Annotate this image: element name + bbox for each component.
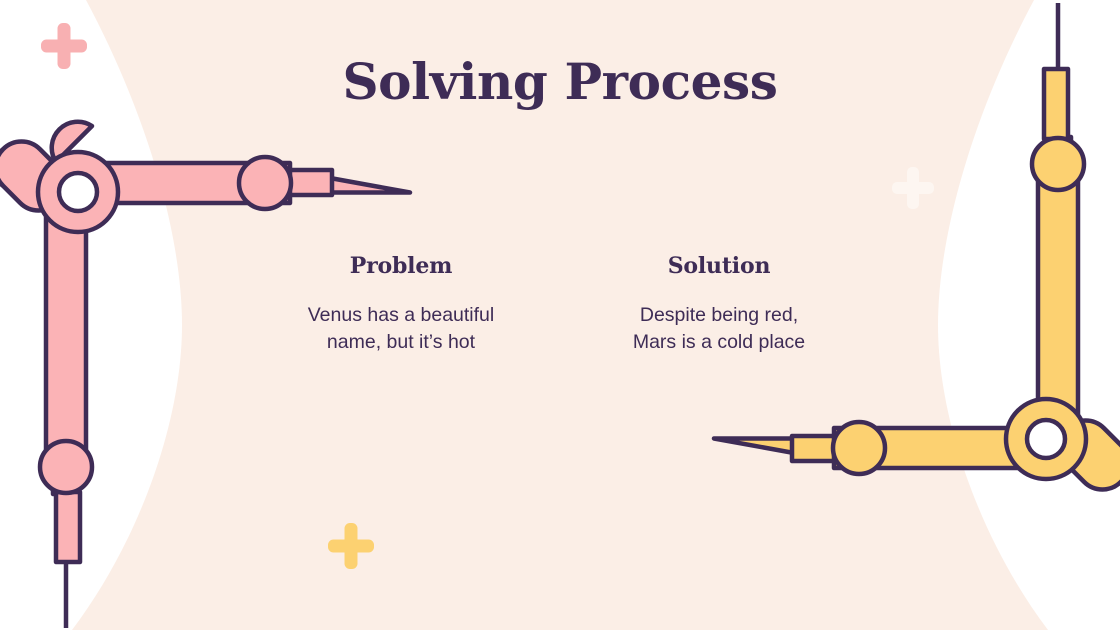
page-title: Solving Process (0, 52, 1120, 112)
slide-content: Solving Process Problem Venus has a beau… (0, 0, 1120, 630)
column-problem-heading: Problem (256, 252, 546, 280)
column-problem: Problem Venus has a beautiful name, but … (256, 252, 546, 356)
column-solution: Solution Despite being red, Mars is a co… (574, 252, 864, 356)
two-column-text-block: Problem Venus has a beautiful name, but … (256, 252, 864, 356)
column-problem-body: Venus has a beautiful name, but it’s hot (256, 302, 546, 356)
slide-canvas: Solving Process Problem Venus has a beau… (0, 0, 1120, 630)
column-solution-body: Despite being red, Mars is a cold place (574, 302, 864, 356)
column-solution-heading: Solution (574, 252, 864, 280)
